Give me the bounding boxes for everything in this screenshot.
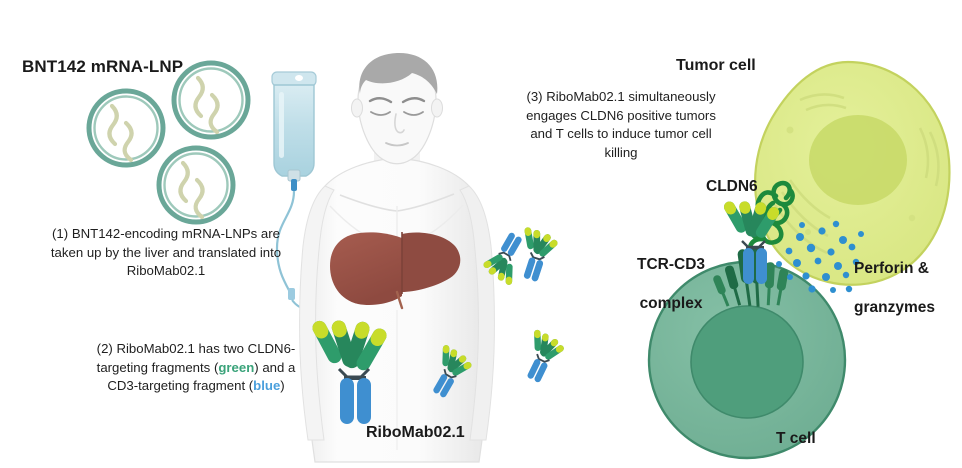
- caption-step-2-green-word: green: [218, 360, 254, 375]
- label-tcr-cd3-line1: TCR-CD3: [637, 255, 705, 275]
- label-tumor-cell: Tumor cell: [676, 56, 756, 76]
- label-perforin-granzymes: Perforin & granzymes: [854, 239, 935, 338]
- caption-step-2-blue-word: blue: [253, 378, 280, 393]
- human-torso-illustration: [300, 53, 495, 462]
- figure-canvas: BNT142 mRNA-LNP Tumor cell CLDN6 TCR-CD3…: [0, 0, 962, 468]
- lnp-particle: [174, 63, 248, 137]
- label-perforin-line1: Perforin &: [854, 259, 935, 279]
- caption-step-2-part3: ): [280, 378, 284, 393]
- free-antibody: [514, 327, 568, 387]
- t-cell-nucleus: [691, 306, 803, 418]
- lnp-particle: [159, 148, 233, 222]
- caption-step-2: (2) RiboMab02.1 has two CLDN6-targeting …: [88, 340, 304, 396]
- lnp-particle-group: [89, 63, 248, 222]
- label-ribomab: RiboMab02.1: [366, 423, 465, 443]
- label-t-cell: T cell: [776, 429, 816, 449]
- label-perforin-line2: granzymes: [854, 298, 935, 318]
- tumor-nucleus: [809, 115, 907, 205]
- label-tcr-cd3-complex: TCR-CD3 complex: [637, 235, 705, 334]
- caption-step-3: (3) RiboMab02.1 simultaneously engages C…: [516, 88, 726, 163]
- label-tcr-cd3-line2: complex: [637, 294, 705, 314]
- free-antibody: [509, 225, 561, 285]
- title-bnt142-mrna-lnp: BNT142 mRNA-LNP: [22, 56, 183, 78]
- lnp-particle: [89, 91, 163, 165]
- caption-step-1: (1) BNT142-encoding mRNA-LNPs are taken …: [42, 225, 290, 281]
- label-cldn6: CLDN6: [706, 177, 758, 197]
